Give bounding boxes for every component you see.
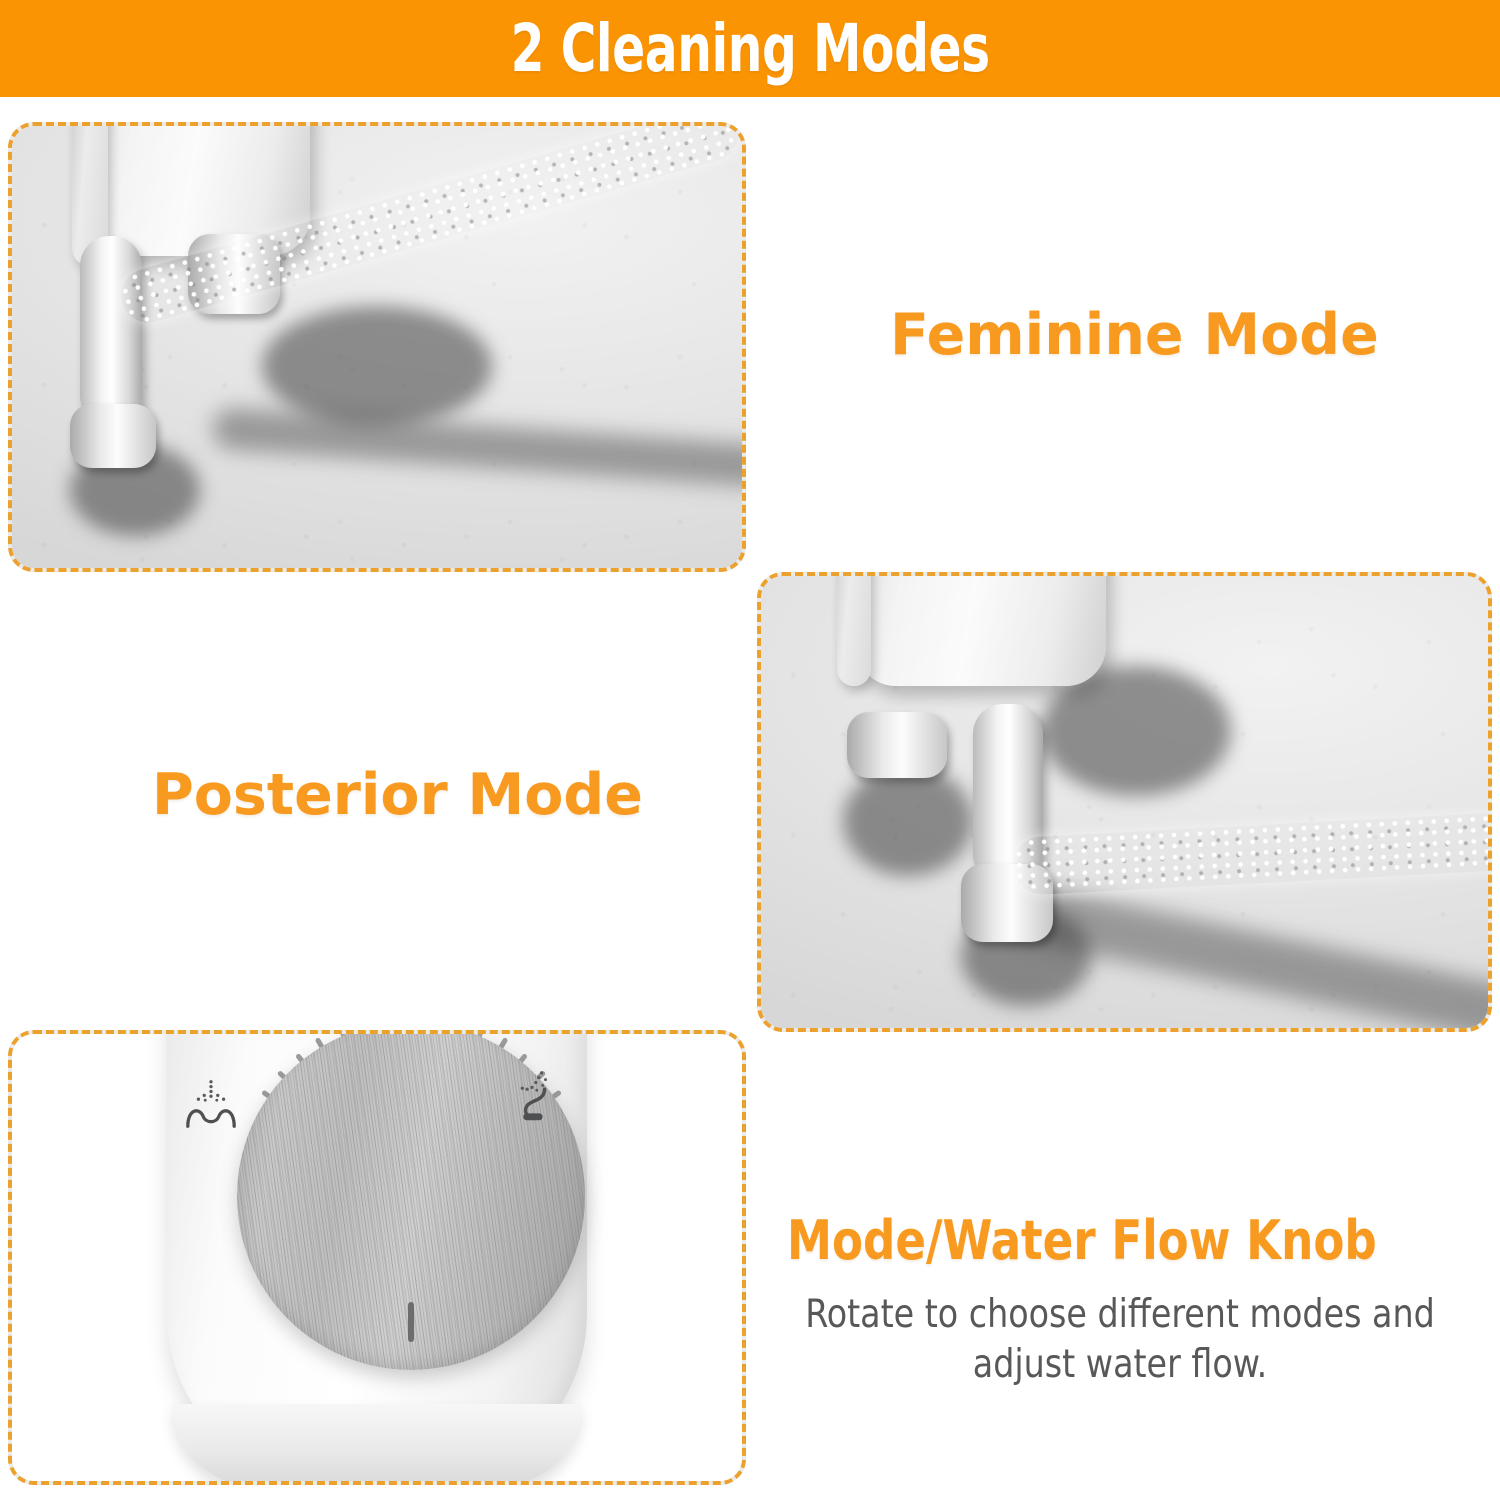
bidet-housing-edge xyxy=(837,572,871,686)
nozzle-shadow xyxy=(262,306,492,426)
photo-panel-feminine xyxy=(8,122,746,572)
knob-indicator-mark xyxy=(408,1302,414,1342)
knob-description: Rotate to choose different modes and adj… xyxy=(788,1290,1453,1390)
feminine-mode-photo xyxy=(12,126,742,568)
bidet-housing xyxy=(856,572,1106,686)
page-title: 2 Cleaning Modes xyxy=(510,16,989,82)
feminine-spray-icon xyxy=(502,1068,560,1126)
knob-label: Mode/Water Flow Knob xyxy=(787,1209,1377,1272)
primary-nozzle-tip xyxy=(70,404,156,468)
posterior-spray-icon xyxy=(182,1076,240,1134)
bidet-control-plate-lip xyxy=(172,1404,582,1485)
posterior-mode-photo xyxy=(761,576,1488,1028)
header-banner: 2 Cleaning Modes xyxy=(0,0,1500,97)
secondary-nozzle xyxy=(847,712,947,778)
secondary-nozzle-shadow xyxy=(843,766,973,876)
primary-nozzle xyxy=(80,236,142,426)
infographic-root: 2 Cleaning Modes xyxy=(0,0,1500,1500)
photo-panel-knob xyxy=(8,1030,746,1485)
posterior-mode-label: Posterior Mode xyxy=(152,762,643,828)
knob-photo xyxy=(12,1034,742,1481)
photo-panel-posterior xyxy=(757,572,1492,1032)
feminine-mode-label: Feminine Mode xyxy=(890,302,1379,368)
